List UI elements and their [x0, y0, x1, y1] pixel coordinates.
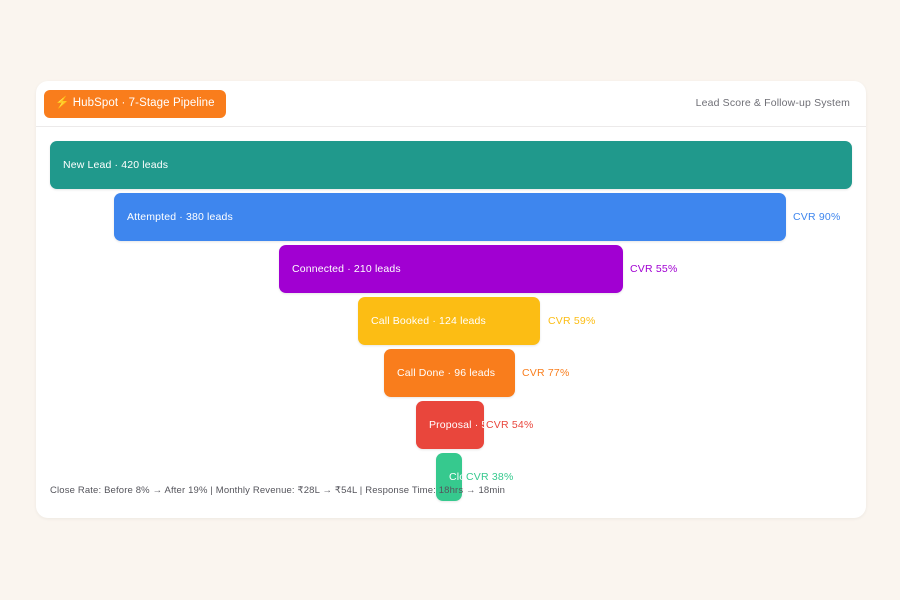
- pipeline-card: ⚡ HubSpot · 7-Stage Pipeline Lead Score …: [36, 81, 866, 518]
- funnel-chart: New Lead · 420 leads Attempted · 380 lea…: [36, 127, 866, 518]
- funnel-row: Connected · 210 leads CVR 55%: [36, 245, 866, 293]
- funnel-row: Proposal · 52 leads CVR 54%: [36, 401, 866, 449]
- funnel-bar-label: Closed · 20 leads: [449, 471, 462, 483]
- funnel-bar-proposal[interactable]: Proposal · 52 leads: [416, 401, 484, 449]
- funnel-bar-label: Connected · 210 leads: [292, 263, 401, 275]
- funnel-bar-call-done[interactable]: Call Done · 96 leads: [384, 349, 515, 397]
- funnel-row: Call Done · 96 leads CVR 77%: [36, 349, 866, 397]
- funnel-row: Attempted · 380 leads CVR 90%: [36, 193, 866, 241]
- funnel-bar-label: New Lead · 420 leads: [63, 159, 168, 171]
- funnel-bar-label: Call Booked · 124 leads: [371, 315, 486, 327]
- pipeline-title-badge: ⚡ HubSpot · 7-Stage Pipeline: [44, 90, 226, 118]
- funnel-cvr-proposal: CVR 54%: [486, 419, 534, 431]
- funnel-row: New Lead · 420 leads: [36, 141, 866, 189]
- funnel-bar-label: Proposal · 52 leads: [429, 419, 484, 431]
- funnel-cvr-attempted: CVR 90%: [793, 211, 841, 223]
- funnel-bar-label: Attempted · 380 leads: [127, 211, 233, 223]
- funnel-cvr-connected: CVR 55%: [630, 263, 678, 275]
- funnel-bar-label: Call Done · 96 leads: [397, 367, 495, 379]
- card-subtitle: Lead Score & Follow-up System: [696, 97, 850, 109]
- funnel-bar-new-lead[interactable]: New Lead · 420 leads: [50, 141, 852, 189]
- card-header: ⚡ HubSpot · 7-Stage Pipeline Lead Score …: [36, 81, 866, 127]
- funnel-cvr-call-done: CVR 77%: [522, 367, 570, 379]
- funnel-bar-connected[interactable]: Connected · 210 leads: [279, 245, 623, 293]
- funnel-bar-call-booked[interactable]: Call Booked · 124 leads: [358, 297, 540, 345]
- funnel-footer-stats: Close Rate: Before 8% → After 19% | Mont…: [50, 485, 505, 496]
- funnel-cvr-call-booked: CVR 59%: [548, 315, 596, 327]
- funnel-bar-attempted[interactable]: Attempted · 380 leads: [114, 193, 786, 241]
- funnel-cvr-closed: CVR 38%: [466, 471, 514, 483]
- screenshot-root: ⚡ HubSpot · 7-Stage Pipeline Lead Score …: [0, 0, 900, 600]
- funnel-row: Call Booked · 124 leads CVR 59%: [36, 297, 866, 345]
